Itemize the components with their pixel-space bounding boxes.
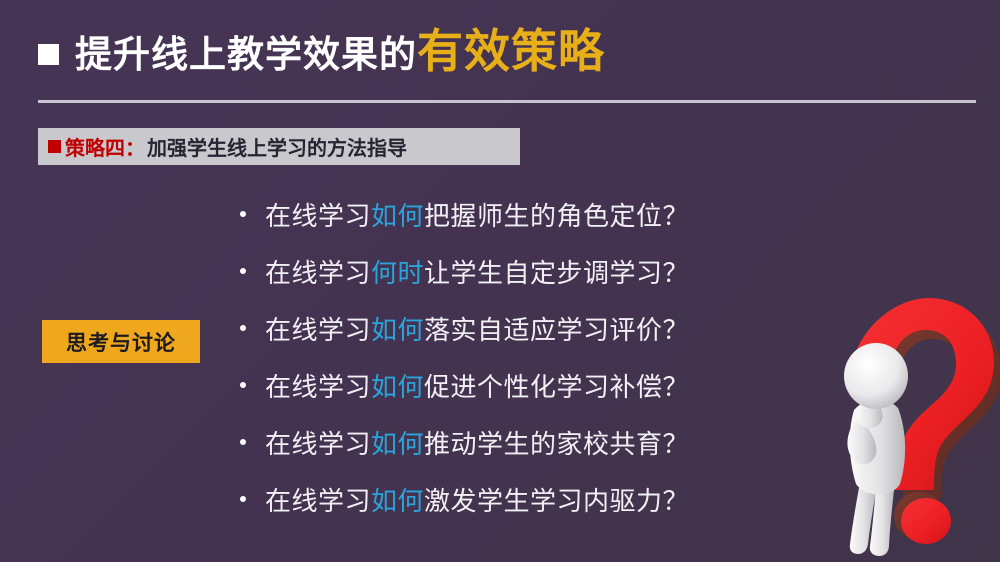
question-mark-illustration: [818, 292, 1000, 562]
question-prefix: 在线学习: [265, 316, 371, 346]
question-highlight: 如何: [371, 202, 424, 232]
strategy-label: 策略四：: [65, 132, 145, 161]
slide-canvas: 提升线上教学效果的 有效策略 策略四： 加强学生线上学习的方法指导 思考与讨论 …: [0, 0, 1000, 562]
list-item: 在线学习如何激发学生学习内驱力？: [240, 481, 760, 538]
page-title: 提升线上教学效果的 有效策略: [38, 28, 605, 78]
discussion-tag: 思考与讨论: [42, 320, 200, 363]
dot-bullet-icon: [240, 382, 246, 388]
question-text: 在线学习何时让学生自定步调学习？: [265, 253, 689, 290]
question-prefix: 在线学习: [265, 487, 371, 517]
question-text: 在线学习如何落实自适应学习评价？: [265, 310, 689, 347]
dot-bullet-icon: [240, 496, 246, 502]
subtitle-bar: 策略四： 加强学生线上学习的方法指导: [38, 128, 520, 165]
question-list: 在线学习如何把握师生的角色定位？ 在线学习何时让学生自定步调学习？ 在线学习如何…: [240, 196, 760, 538]
question-prefix: 在线学习: [265, 202, 371, 232]
title-divider: [38, 100, 976, 103]
question-mark-dot: [901, 498, 951, 544]
list-item: 在线学习如何把握师生的角色定位？: [240, 196, 760, 253]
figure-head: [844, 343, 908, 409]
question-text: 在线学习如何把握师生的角色定位？: [265, 196, 689, 233]
question-highlight: 何时: [371, 259, 424, 289]
question-prefix: 在线学习: [265, 430, 371, 460]
dot-bullet-icon: [240, 439, 246, 445]
question-prefix: 在线学习: [265, 373, 371, 403]
question-text: 在线学习如何推动学生的家校共育？: [265, 424, 689, 461]
list-item: 在线学习如何落实自适应学习评价？: [240, 310, 760, 367]
question-suffix: 推动学生的家校共育？: [424, 430, 689, 460]
discussion-tag-label: 思考与讨论: [66, 327, 176, 357]
question-prefix: 在线学习: [265, 259, 371, 289]
question-highlight: 如何: [371, 430, 424, 460]
list-item: 在线学习如何推动学生的家校共育？: [240, 424, 760, 481]
question-mark-icon: [818, 292, 1000, 562]
list-item: 在线学习何时让学生自定步调学习？: [240, 253, 760, 310]
question-suffix: 落实自适应学习评价？: [424, 316, 689, 346]
red-square-bullet-icon: [48, 140, 61, 153]
strategy-description: 加强学生线上学习的方法指导: [147, 132, 407, 161]
title-accent-text: 有效策略: [417, 28, 605, 74]
dot-bullet-icon: [240, 325, 246, 331]
question-suffix: 促进个性化学习补偿？: [424, 373, 689, 403]
dot-bullet-icon: [240, 268, 246, 274]
square-bullet-icon: [38, 44, 59, 65]
question-suffix: 激发学生学习内驱力？: [424, 487, 689, 517]
question-suffix: 把握师生的角色定位？: [424, 202, 689, 232]
question-text: 在线学习如何促进个性化学习补偿？: [265, 367, 689, 404]
title-main-text: 提升线上教学效果的: [75, 32, 417, 78]
dot-bullet-icon: [240, 211, 246, 217]
list-item: 在线学习如何促进个性化学习补偿？: [240, 367, 760, 424]
question-highlight: 如何: [371, 487, 424, 517]
question-highlight: 如何: [371, 373, 424, 403]
question-suffix: 让学生自定步调学习？: [424, 259, 689, 289]
question-highlight: 如何: [371, 316, 424, 346]
question-text: 在线学习如何激发学生学习内驱力？: [265, 481, 689, 518]
